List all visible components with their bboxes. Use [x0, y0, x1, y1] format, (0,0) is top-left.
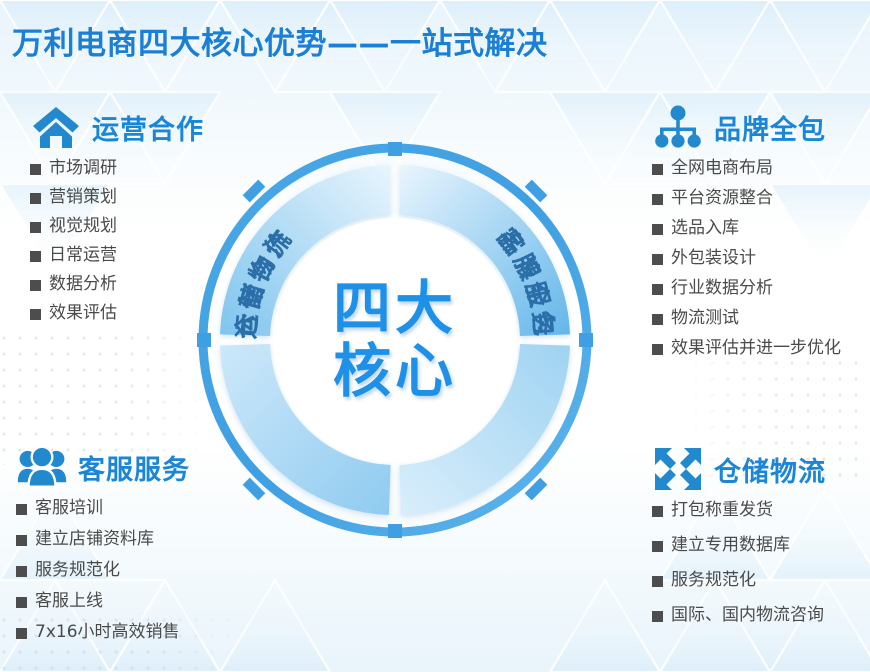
bullet-square-icon: [652, 314, 663, 325]
list-item-label: 效果评估: [49, 305, 117, 322]
donut-center-hub: [273, 218, 517, 462]
list-item-label: 选品入库: [671, 220, 739, 237]
list-item-label: 全网电商布局: [671, 160, 773, 177]
list-item: 服务规范化: [16, 562, 190, 579]
section-operations-cooperation: 运营合作 市场调研 营销策划 视觉规划 日常运营 数据分析 效果评估: [30, 104, 204, 334]
feature-list: 市场调研 营销策划 视觉规划 日常运营 数据分析 效果评估: [30, 160, 204, 322]
bullet-square-icon: [652, 224, 663, 235]
list-item: 效果评估并进一步优化: [652, 340, 841, 357]
section-brand-full-package: 品牌全包 全网电商布局 平台资源整合 选品入库 外包装设计 行业数据分析 物流测…: [652, 104, 841, 370]
list-item: 客服上线: [16, 593, 190, 610]
list-item-label: 服务规范化: [35, 562, 120, 579]
section-header: 品牌全包: [652, 104, 841, 150]
bullet-square-icon: [652, 576, 663, 587]
central-donut-diagram: 运营合作 品牌全包 仓储物流 客服服务 四大 核心: [195, 140, 595, 540]
list-item-label: 日常运营: [49, 247, 117, 264]
bullet-square-icon: [652, 344, 663, 355]
bullet-square-icon: [16, 628, 27, 639]
list-item-label: 服务规范化: [671, 572, 756, 589]
bullet-square-icon: [30, 222, 41, 233]
list-item: 7x16小时高效销售: [16, 624, 190, 641]
list-item-label: 7x16小时高效销售: [35, 624, 180, 641]
bullet-square-icon: [652, 506, 663, 517]
list-item: 服务规范化: [652, 572, 826, 589]
bullet-square-icon: [652, 611, 663, 622]
list-item: 全网电商布局: [652, 160, 841, 177]
list-item: 效果评估: [30, 305, 204, 322]
list-item: 物流测试: [652, 310, 841, 327]
list-item: 日常运营: [30, 247, 204, 264]
list-item: 营销策划: [30, 189, 204, 206]
list-item-label: 外包装设计: [671, 250, 756, 267]
list-item-label: 客服上线: [35, 593, 103, 610]
list-item-label: 国际、国内物流咨询: [671, 607, 824, 624]
bullet-square-icon: [30, 280, 41, 291]
bullet-square-icon: [16, 535, 27, 546]
list-item: 建立店铺资料库: [16, 531, 190, 548]
bullet-square-icon: [652, 541, 663, 552]
feature-list: 打包称重发货 建立专用数据库 服务规范化 国际、国内物流咨询: [652, 502, 826, 624]
bullet-square-icon: [16, 504, 27, 515]
bullet-square-icon: [30, 251, 41, 262]
list-item: 视觉规划: [30, 218, 204, 235]
section-title: 客服服务: [78, 448, 190, 487]
list-item-label: 市场调研: [49, 160, 117, 177]
org-chart-icon: [652, 104, 704, 150]
list-item-label: 打包称重发货: [671, 502, 773, 519]
section-title: 运营合作: [92, 108, 204, 147]
list-item-label: 建立专用数据库: [671, 537, 790, 554]
list-item-label: 数据分析: [49, 276, 117, 293]
feature-list: 客服培训 建立店铺资料库 服务规范化 客服上线 7x16小时高效销售: [16, 500, 190, 641]
infographic-canvas: 万利电商四大核心优势——一站式解决 运营合作 市场调研 营销策划 视觉规划 日常…: [0, 0, 870, 672]
section-header: 运营合作: [30, 104, 204, 150]
page-title: 万利电商四大核心优势——一站式解决: [12, 18, 548, 63]
bullet-square-icon: [652, 194, 663, 205]
section-title: 品牌全包: [714, 108, 826, 147]
list-item-label: 视觉规划: [49, 218, 117, 235]
bullet-square-icon: [30, 309, 41, 320]
list-item: 建立专用数据库: [652, 537, 826, 554]
list-item-label: 效果评估并进一步优化: [671, 340, 841, 357]
bullet-square-icon: [30, 164, 41, 175]
list-item: 选品入库: [652, 220, 841, 237]
list-item: 市场调研: [30, 160, 204, 177]
list-item-label: 建立店铺资料库: [35, 531, 154, 548]
section-title: 仓储物流: [714, 450, 826, 489]
bullet-square-icon: [652, 284, 663, 295]
bullet-square-icon: [16, 566, 27, 577]
section-customer-service: 客服服务 客服培训 建立店铺资料库 服务规范化 客服上线 7x16小时高效销售: [16, 444, 190, 655]
list-item: 客服培训: [16, 500, 190, 517]
bullet-square-icon: [652, 164, 663, 175]
list-item: 平台资源整合: [652, 190, 841, 207]
feature-list: 全网电商布局 平台资源整合 选品入库 外包装设计 行业数据分析 物流测试 效果评…: [652, 160, 841, 357]
home-icon: [30, 104, 82, 150]
list-item: 打包称重发货: [652, 502, 826, 519]
people-group-icon: [16, 444, 68, 490]
list-item-label: 物流测试: [671, 310, 739, 327]
list-item: 数据分析: [30, 276, 204, 293]
list-item-label: 客服培训: [35, 500, 103, 517]
bullet-square-icon: [30, 193, 41, 204]
bullet-square-icon: [16, 597, 27, 608]
list-item-label: 行业数据分析: [671, 280, 773, 297]
list-item: 国际、国内物流咨询: [652, 607, 826, 624]
bullet-square-icon: [652, 254, 663, 265]
list-item: 外包装设计: [652, 250, 841, 267]
list-item-label: 营销策划: [49, 189, 117, 206]
section-header: 客服服务: [16, 444, 190, 490]
section-header: 仓储物流: [652, 446, 826, 492]
list-item: 行业数据分析: [652, 280, 841, 297]
section-warehouse-logistics: 仓储物流 打包称重发货 建立专用数据库 服务规范化 国际、国内物流咨询: [652, 446, 826, 642]
four-arrows-icon: [652, 446, 704, 492]
list-item-label: 平台资源整合: [671, 190, 773, 207]
